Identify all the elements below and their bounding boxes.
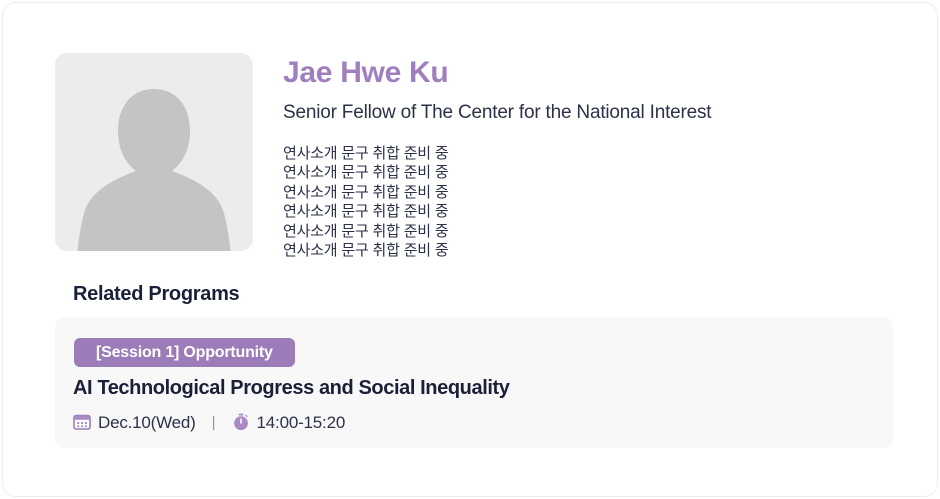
program-date-text: Dec.10(Wed)	[98, 414, 196, 431]
profile-text: Jae Hwe Ku Senior Fellow of The Center f…	[283, 53, 895, 261]
bio-line: 연사소개 문구 취합 준비 중	[283, 222, 895, 242]
program-title[interactable]: AI Technological Progress and Social Ine…	[73, 377, 510, 400]
meta-separator: |	[212, 415, 216, 430]
clock-icon	[232, 413, 250, 431]
related-programs-heading: Related Programs	[73, 283, 239, 306]
speaker-affiliation: Senior Fellow of The Center for the Nati…	[283, 89, 895, 126]
program-date: Dec.10(Wed)	[73, 413, 196, 431]
speaker-bio: 연사소개 문구 취합 준비 중 연사소개 문구 취합 준비 중 연사소개 문구 …	[283, 126, 895, 261]
calendar-icon	[73, 413, 91, 431]
bio-line: 연사소개 문구 취합 준비 중	[283, 202, 895, 222]
bio-line: 연사소개 문구 취합 준비 중	[283, 163, 895, 183]
bio-line: 연사소개 문구 취합 준비 중	[283, 183, 895, 203]
status-badge: [Session 1] Opportunity	[74, 338, 295, 367]
program-card[interactable]: [Session 1] Opportunity AI Technological…	[55, 317, 893, 448]
program-meta: Dec.10(Wed) | 14:00-15:20	[73, 411, 345, 433]
speaker-profile: Jae Hwe Ku Senior Fellow of The Center f…	[55, 53, 895, 253]
bio-line: 연사소개 문구 취합 준비 중	[283, 241, 895, 261]
avatar	[55, 53, 253, 251]
program-time-text: 14:00-15:20	[257, 414, 346, 431]
bio-line: 연사소개 문구 취합 준비 중	[283, 144, 895, 164]
page-title: Jae Hwe Ku	[283, 53, 895, 89]
speaker-detail-card: Jae Hwe Ku Senior Fellow of The Center f…	[2, 2, 938, 497]
program-time: 14:00-15:20	[232, 413, 346, 431]
person-placeholder-icon	[74, 83, 234, 251]
